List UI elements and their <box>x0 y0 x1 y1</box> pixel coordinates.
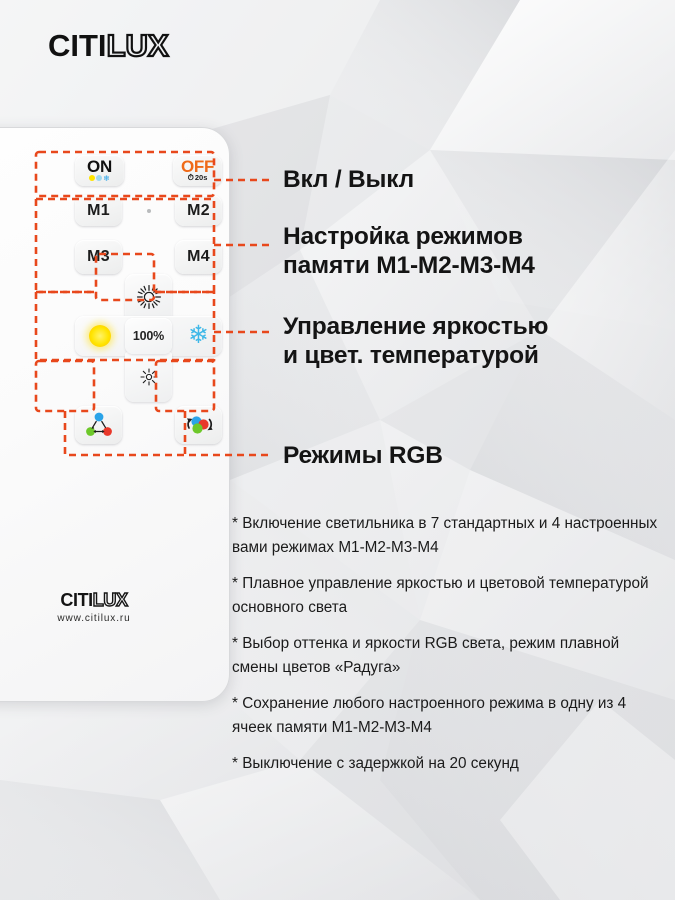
rgb-rainbow-button[interactable] <box>175 406 222 444</box>
snowflake-small-icon: ❄ <box>103 175 110 182</box>
brand-logo-citi: CITI <box>48 28 107 64</box>
list-item: * Включение светильника в 7 стандартных … <box>232 512 668 559</box>
warm-dot-icon <box>89 175 95 181</box>
memory-button-m4-label: M4 <box>187 248 210 266</box>
brightness-100-button[interactable]: 100% <box>125 318 172 354</box>
callout-label-memory: Настройка режимов памяти M1-M2-M3-M4 <box>283 222 535 280</box>
sun-warm-icon <box>89 325 111 347</box>
mid-dot-icon <box>96 175 102 181</box>
cool-light-button[interactable]: ❄ <box>188 323 209 348</box>
off-button-timer: ⏱ 20s <box>188 174 208 182</box>
remote-logo-citi: CITI <box>60 590 92 611</box>
memory-button-m3[interactable]: M3 <box>75 240 122 274</box>
callout-label-rgb: Режимы RGB <box>283 441 443 470</box>
remote-logo-url: www.citilux.ru <box>0 613 230 624</box>
memory-button-m2[interactable]: M2 <box>175 195 222 226</box>
callout-rgb-text: Режимы RGB <box>283 441 443 470</box>
brand-logo: CITI LUX <box>48 28 169 64</box>
rgb-rainbow-cycle-icon <box>182 411 216 439</box>
on-button-icons: ❄ <box>89 175 110 182</box>
led-indicator <box>147 209 151 213</box>
rgb-color-select-icon <box>83 410 115 440</box>
list-item: * Выключение с задержкой на 20 секунд <box>232 752 668 776</box>
callout-memory-line1: Настройка режимов <box>283 222 535 251</box>
brightness-up-button[interactable] <box>125 274 172 320</box>
brightness-percent-label: 100% <box>133 329 164 343</box>
list-item: * Сохранение любого настроенного режима … <box>232 692 668 739</box>
callout-label-power: Вкл / Выкл <box>283 165 414 194</box>
dpad-cluster: ❄ 100% <box>75 274 222 406</box>
off-button-label: OFF <box>181 160 214 174</box>
rgb-color-select-button[interactable] <box>75 406 122 444</box>
remote-logo-lux: LUX <box>93 590 128 611</box>
clock-icon: ⏱ <box>188 174 194 182</box>
callout-brightness-line2: и цвет. температурой <box>283 341 548 370</box>
callout-label-brightness: Управление яркостью и цвет. температурой <box>283 312 548 370</box>
remote-keypad: ON ❄ OFF ⏱ 20s M1 M2 M3 M <box>75 155 222 446</box>
warm-light-button[interactable] <box>89 325 111 347</box>
callout-brightness-line1: Управление яркостью <box>283 312 548 341</box>
memory-button-m1[interactable]: M1 <box>75 195 122 226</box>
memory-row-top: M1 M2 <box>75 195 222 226</box>
memory-button-m1-label: M1 <box>87 202 110 220</box>
callout-memory-line2: памяти M1-M2-M3-M4 <box>283 251 535 280</box>
brand-logo-lux: LUX <box>107 28 169 64</box>
sun-dim-icon <box>139 367 159 387</box>
memory-button-m3-label: M3 <box>87 248 110 266</box>
snowflake-icon: ❄ <box>188 321 209 349</box>
memory-button-m2-label: M2 <box>187 202 210 220</box>
on-button[interactable]: ON ❄ <box>75 155 124 186</box>
list-item: * Выбор оттенка и яркости RGB света, реж… <box>232 632 668 679</box>
rgb-button-row <box>75 406 222 446</box>
sun-bright-icon <box>136 284 162 310</box>
callout-power-text: Вкл / Выкл <box>283 165 414 194</box>
off-button[interactable]: OFF ⏱ 20s <box>173 155 222 186</box>
power-button-row: ON ❄ OFF ⏱ 20s <box>75 155 222 186</box>
list-item: * Плавное управление яркостью и цветовой… <box>232 572 668 619</box>
memory-button-m4[interactable]: M4 <box>175 240 222 274</box>
off-timer-label: 20s <box>195 174 208 182</box>
feature-notes-list: * Включение светильника в 7 стандартных … <box>232 512 668 789</box>
memory-row-bottom: M3 M4 <box>75 235 222 278</box>
remote-footer-logo: CITI LUX www.citilux.ru <box>0 590 230 624</box>
brightness-down-button[interactable] <box>125 352 172 402</box>
on-button-label: ON <box>87 160 112 174</box>
